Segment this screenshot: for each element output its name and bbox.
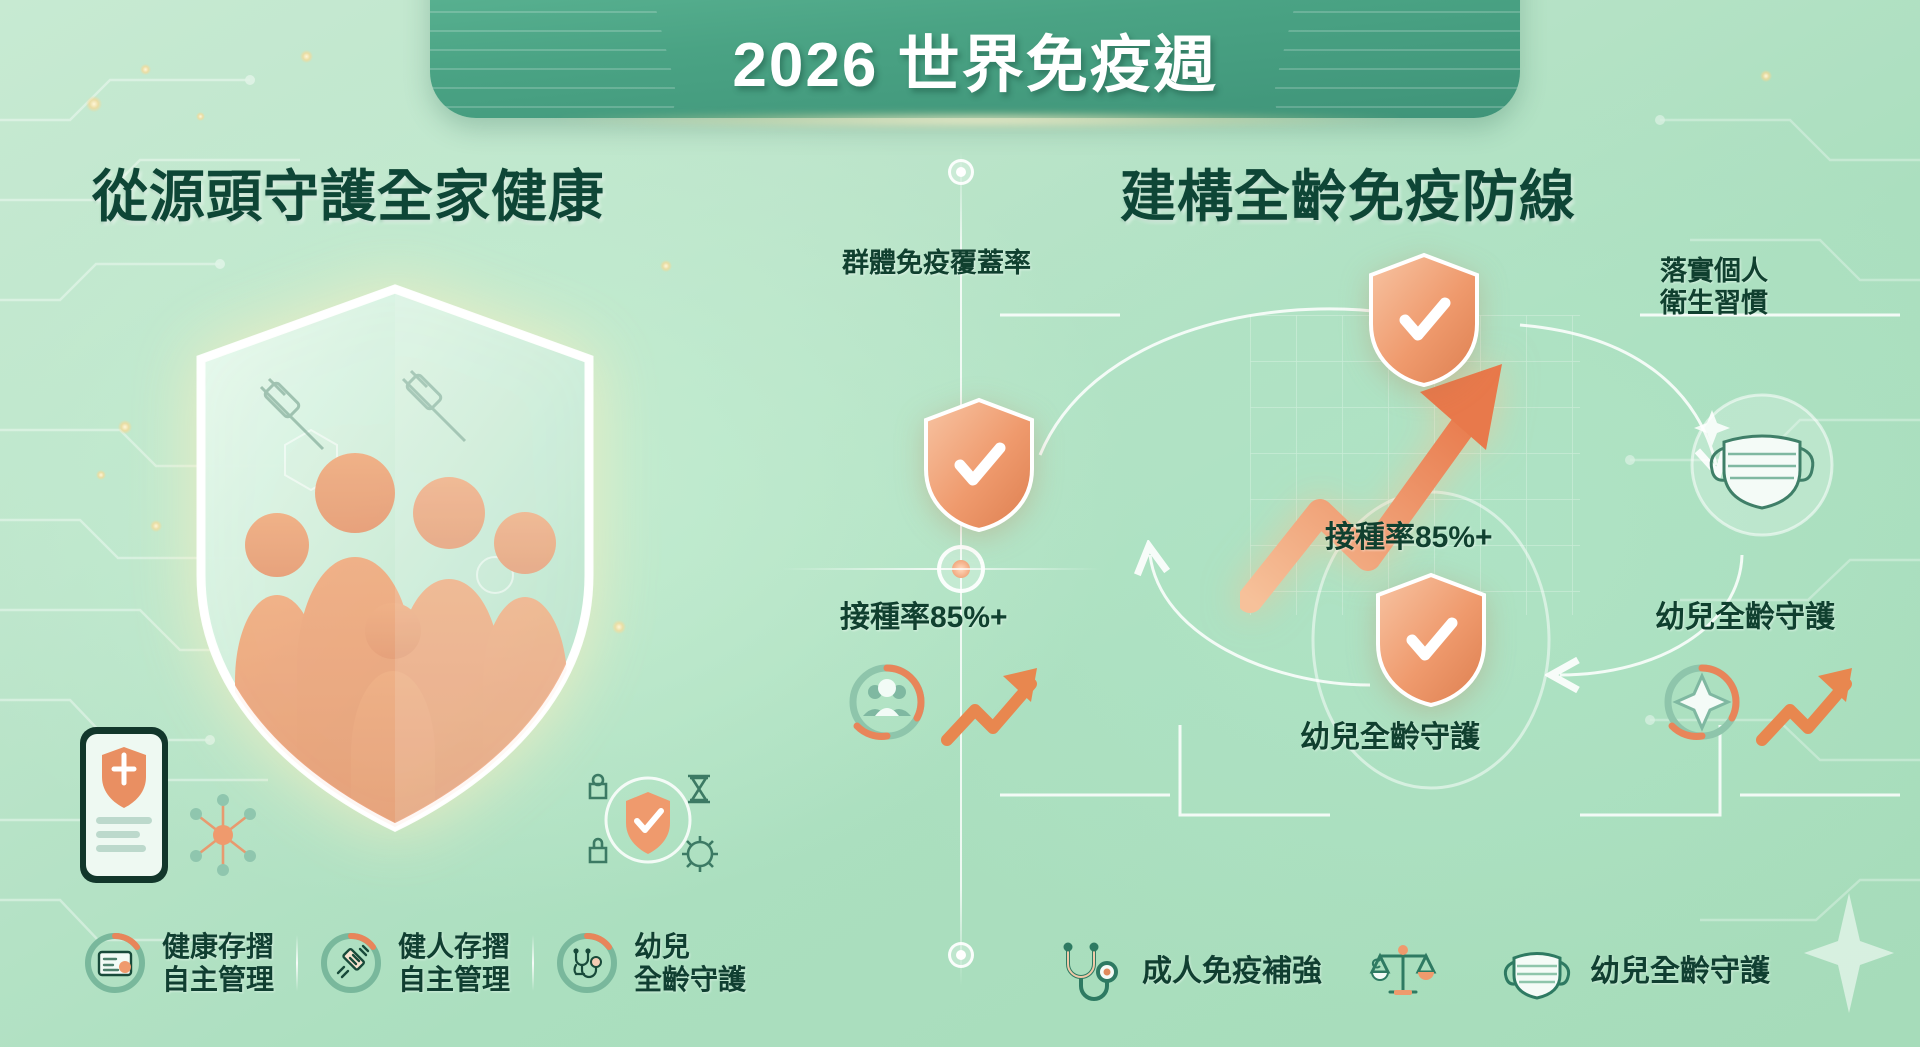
chip-vaccine-passbook[interactable]: 健人存摺 自主管理 [298,930,532,996]
molecule-network-icon [178,790,268,880]
sparkle-icon [96,470,106,480]
chip-label-line2: 自主管理 [162,964,274,995]
syringe-icon [320,932,382,994]
header-banner: 2026 世界免疫週 [430,0,1520,118]
chip-label-line1: 健人存摺 [398,931,510,962]
label-hygiene-line2: 衛生習慣 [1660,288,1768,318]
sparkle-growth-stat [1650,640,1860,760]
check-shield-badge-icon [568,762,728,882]
sparkle-icon [1760,70,1772,82]
label-vaccination-rate-center: 接種率85%+ [1325,520,1493,556]
chip-adult-immunity-booster[interactable]: 成人免疫補強 [1030,940,1344,1004]
shield-check-icon [1365,250,1483,390]
divider-node-top [948,159,974,185]
infographic-canvas: 2026 世界免疫週 從源頭守護全家健康 建構全齡免疫防線 [0,0,1920,1047]
sparkle-icon [118,420,132,434]
divider-node-center [937,545,985,593]
chip-health-passbook[interactable]: 健康存摺 自主管理 [62,930,296,996]
chip-label: 成人免疫補強 [1142,954,1322,989]
chip-label: 健人存摺 自主管理 [398,930,510,996]
people-growth-stat [835,640,1045,760]
chip-label-line1: 健康存摺 [162,931,274,962]
right-panel-heading: 建構全齡免疫防線 [1120,152,1576,233]
shield-check-icon [920,395,1038,535]
shield-check-icon [1372,570,1490,710]
divider-node-bottom [948,942,974,968]
chip-label: 健康存摺 自主管理 [162,930,274,996]
chip-child-lifelong-care[interactable]: 幼兒 全齡守護 [534,930,768,996]
sparkle-icon [150,520,162,532]
smartphone-health-record-icon [78,725,170,885]
chip-label-line2: 自主管理 [398,964,510,995]
immunity-network-diagram: 群體免疫覆蓋率 落實個人 衛生習慣 接種率85%+ 接種率85%+ 幼兒全齡守護… [1000,255,1900,905]
sparkle-icon [140,64,151,75]
health-card-icon [84,932,146,994]
sparkle-icon [196,112,205,121]
label-personal-hygiene: 落實個人 衛生習慣 [1660,255,1768,320]
label-hygiene-line1: 落實個人 [1660,256,1768,286]
page-title: 2026 世界免疫週 [732,14,1217,104]
sparkle-icon [660,260,672,272]
face-mask-icon [1672,390,1852,540]
chip-child-lifelong-care-right[interactable]: 幼兒全齡守護 [1478,940,1792,1004]
left-panel-heading: 從源頭守護全家健康 [92,152,605,233]
chip-balance-nutrition[interactable] [1344,940,1478,1004]
chip-label: 幼兒 全齡守護 [634,930,746,996]
sparkle-icon [300,50,313,63]
sparkle-icon [86,96,102,112]
family-shield-illustration [165,275,625,845]
stethoscope-icon [1052,940,1126,1004]
label-vaccination-rate-left: 接種率85%+ [840,600,1008,636]
chip-label: 幼兒全齡守護 [1590,954,1770,989]
label-child-care-right: 幼兒全齡守護 [1655,600,1835,636]
balance-scale-apple-icon [1366,940,1440,1004]
right-chip-row: 成人免疫補強 [1030,940,1792,1004]
label-child-care-bottom: 幼兒全齡守護 [1300,720,1480,756]
sparkle-icon [1804,893,1894,1013]
left-chip-row: 健康存摺 自主管理 健人存摺 自主管理 [62,930,768,996]
pediatric-stethoscope-icon [556,932,618,994]
face-mask-icon [1500,940,1574,1004]
chip-label-line2: 全齡守護 [634,964,746,995]
label-herd-coverage: 群體免疫覆蓋率 [842,247,1031,279]
chip-label-line1: 幼兒 [634,931,690,962]
